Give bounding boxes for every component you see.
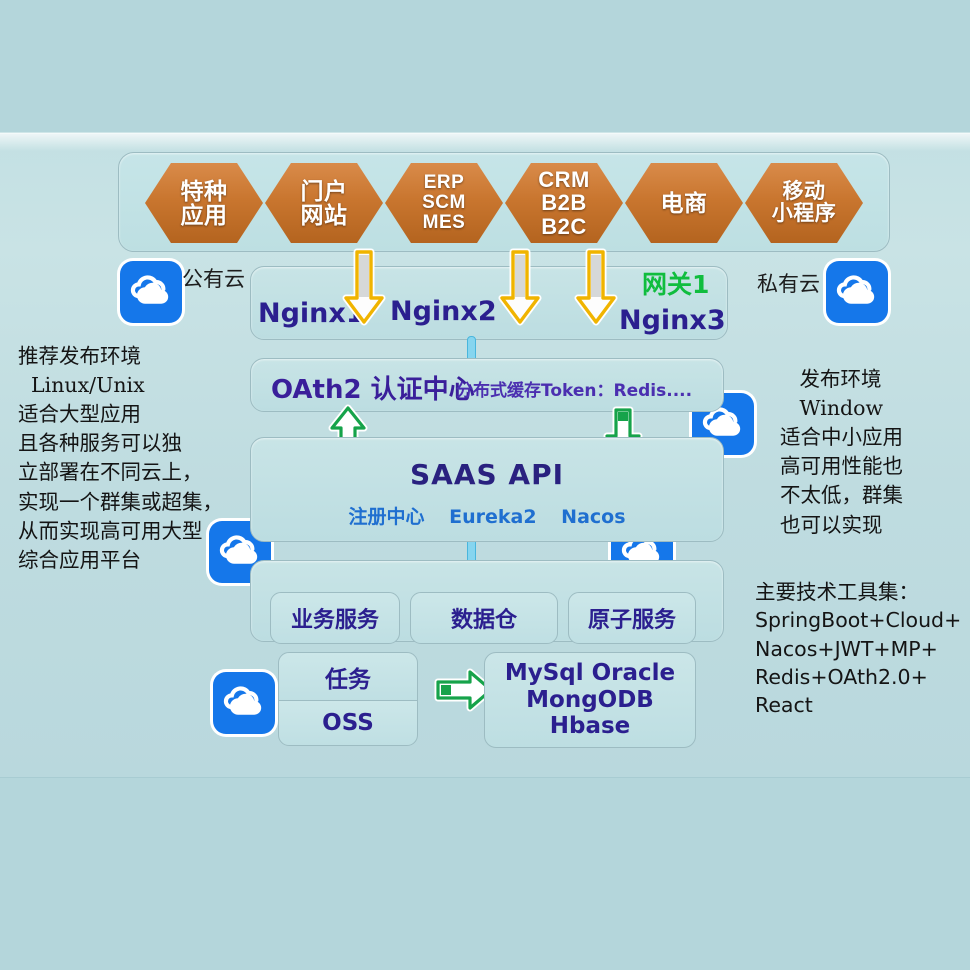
app-hex-special[interactable]: 特种应用 — [145, 163, 263, 243]
diagram-canvas: 特种应用 门户网站 ERPSCMMES CRMB2BB2C 电商 移动小程序 — [0, 0, 970, 970]
hex-line: SCM — [422, 192, 466, 213]
note-right: 发布环境 Window 适合中小应用 高可用性能也 不太低，群集 也可以实现 — [780, 365, 903, 540]
db-line: MongODB — [526, 687, 654, 714]
service-box-atomic[interactable]: 原子服务 — [568, 592, 696, 644]
hex-line: CRM — [538, 167, 590, 192]
app-hex-ecommerce[interactable]: 电商 — [625, 163, 743, 243]
arrow-down-yellow-1 — [340, 248, 388, 326]
db-line: MySql Oracle — [505, 660, 675, 687]
oss-box[interactable]: OSS — [278, 700, 418, 746]
panel-gloss — [0, 133, 970, 151]
registry-nacos[interactable]: Nacos — [561, 506, 625, 528]
app-hex-portal[interactable]: 门户网站 — [265, 163, 383, 243]
oauth-panel: OAth2 认证中心 分布式缓存Token：Redis.... — [250, 358, 724, 412]
public-cloud-label: 公有云 — [182, 263, 245, 293]
hex-line: 网站 — [301, 202, 348, 228]
saas-title: SAAS API — [251, 458, 723, 491]
hex-line: 小程序 — [772, 202, 837, 225]
cloud-icon — [701, 407, 745, 441]
hex-line: 电商 — [661, 190, 708, 216]
note-left: 推荐发布环境 Linux/Unix 适合大型应用 且各种服务可以独 立部署在不同… — [18, 342, 223, 575]
registry-label: 注册中心 — [348, 506, 424, 528]
nginx2-label[interactable]: Nginx2 — [390, 296, 497, 327]
hex-line: 门户 — [301, 178, 348, 204]
nginx3-label[interactable]: Nginx3 — [619, 305, 726, 336]
hex-line: ERP — [424, 172, 465, 193]
private-cloud-label: 私有云 — [757, 268, 820, 298]
cloud-icon — [835, 275, 879, 309]
cloud-icon-bottom-left[interactable] — [213, 672, 275, 734]
registry-eureka[interactable]: Eureka2 — [449, 506, 536, 528]
arrow-down-yellow-3 — [572, 248, 620, 326]
hex-line: MES — [423, 212, 466, 233]
hex-line: B2B — [541, 190, 587, 215]
saas-api-panel: SAAS API 注册中心 Eureka2 Nacos — [250, 437, 724, 542]
app-hex-mobile[interactable]: 移动小程序 — [745, 163, 863, 243]
note-tech-stack: 主要技术工具集： SpringBoot+Cloud+ Nacos+JWT+MP+… — [755, 578, 961, 719]
saas-registry-row: 注册中心 Eureka2 Nacos — [251, 502, 723, 529]
hex-line: B2C — [541, 214, 587, 239]
database-box[interactable]: MySql Oracle MongODB Hbase — [484, 652, 696, 748]
app-hex-erp[interactable]: ERPSCMMES — [385, 163, 503, 243]
oauth-subtitle: 分布式缓存Token：Redis.... — [456, 376, 692, 401]
app-hex-crm[interactable]: CRMB2BB2C — [505, 163, 623, 243]
task-box[interactable]: 任务 — [278, 652, 418, 702]
arrow-down-yellow-2 — [496, 248, 544, 326]
cloud-icon — [129, 275, 173, 309]
cloud-icon — [222, 686, 266, 720]
db-line: Hbase — [550, 713, 631, 740]
cloud-icon-private[interactable] — [826, 261, 888, 323]
service-box-business[interactable]: 业务服务 — [270, 592, 400, 644]
hex-line: 特种 — [181, 178, 228, 204]
gateway1-label: 网关1 — [642, 265, 709, 301]
hex-line: 移动 — [783, 180, 826, 203]
service-box-datawarehouse[interactable]: 数据仓 — [410, 592, 558, 644]
application-layer-strip: 特种应用 门户网站 ERPSCMMES CRMB2BB2C 电商 移动小程序 — [118, 152, 890, 252]
oauth-title: OAth2 认证中心 — [271, 369, 475, 406]
hex-line: 应用 — [181, 202, 228, 228]
cloud-icon-public[interactable] — [120, 261, 182, 323]
